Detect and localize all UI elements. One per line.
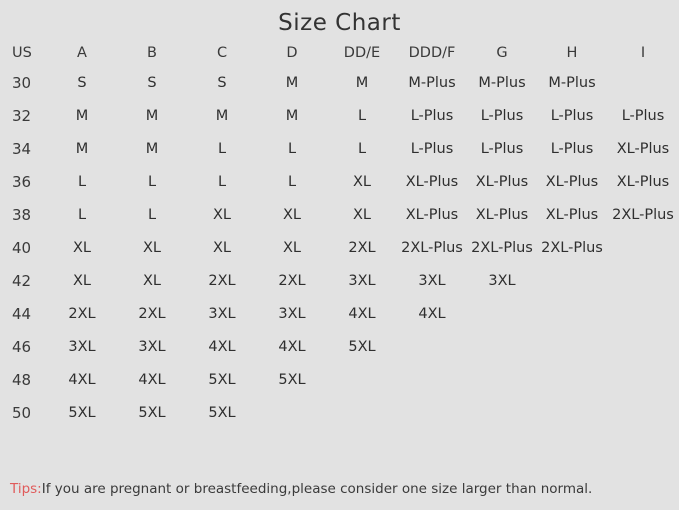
row-header-us-50: 50 bbox=[0, 396, 47, 429]
size-cell: M bbox=[47, 132, 117, 165]
size-cell: XL bbox=[47, 264, 117, 297]
column-header-dd-e: DD/E bbox=[327, 40, 397, 66]
size-cell: 3XL bbox=[467, 264, 537, 297]
size-cell bbox=[607, 330, 679, 363]
size-cell: XL-Plus bbox=[537, 165, 607, 198]
size-cell: L bbox=[327, 99, 397, 132]
size-cell: 3XL bbox=[117, 330, 187, 363]
row-header-us-30: 30 bbox=[0, 66, 47, 99]
size-cell bbox=[537, 264, 607, 297]
size-cell: 2XL-Plus bbox=[397, 231, 467, 264]
size-cell: 2XL-Plus bbox=[607, 198, 679, 231]
size-cell: XL bbox=[47, 231, 117, 264]
size-cell: L bbox=[47, 198, 117, 231]
size-cell: L-Plus bbox=[607, 99, 679, 132]
size-cell: 2XL bbox=[327, 231, 397, 264]
size-cell bbox=[397, 330, 467, 363]
size-cell: XL-Plus bbox=[467, 198, 537, 231]
size-cell: XL bbox=[327, 165, 397, 198]
size-cell: M-Plus bbox=[467, 66, 537, 99]
size-cell: L-Plus bbox=[467, 99, 537, 132]
size-cell: XL-Plus bbox=[397, 198, 467, 231]
size-cell: M bbox=[187, 99, 257, 132]
column-header-g: G bbox=[467, 40, 537, 66]
size-cell: 2XL-Plus bbox=[467, 231, 537, 264]
row-header-us-44: 44 bbox=[0, 297, 47, 330]
size-cell: XL bbox=[117, 231, 187, 264]
size-cell: L-Plus bbox=[397, 99, 467, 132]
size-cell: 5XL bbox=[257, 363, 327, 396]
size-cell: XL-Plus bbox=[467, 165, 537, 198]
size-cell: L bbox=[327, 132, 397, 165]
size-cell: M-Plus bbox=[397, 66, 467, 99]
size-cell: 4XL bbox=[117, 363, 187, 396]
size-cell: 3XL bbox=[397, 264, 467, 297]
tips-label: Tips: bbox=[10, 481, 42, 497]
size-cell: M-Plus bbox=[537, 66, 607, 99]
row-header-us-32: 32 bbox=[0, 99, 47, 132]
page-title: Size Chart bbox=[0, 0, 679, 38]
size-cell: M bbox=[327, 66, 397, 99]
size-cell: 3XL bbox=[47, 330, 117, 363]
size-cell: S bbox=[117, 66, 187, 99]
table-row: 40XLXLXLXL2XL2XL-Plus2XL-Plus2XL-Plus bbox=[0, 231, 679, 264]
size-cell bbox=[397, 396, 467, 429]
size-cell: L bbox=[187, 132, 257, 165]
size-cell: XL bbox=[327, 198, 397, 231]
size-cell: L-Plus bbox=[467, 132, 537, 165]
size-cell: 4XL bbox=[397, 297, 467, 330]
size-cell bbox=[537, 363, 607, 396]
size-cell: XL bbox=[117, 264, 187, 297]
size-cell: 5XL bbox=[327, 330, 397, 363]
size-cell: 2XL bbox=[257, 264, 327, 297]
size-cell: 5XL bbox=[47, 396, 117, 429]
size-cell bbox=[607, 264, 679, 297]
size-cell bbox=[467, 297, 537, 330]
size-chart-table: USABCDDD/EDDD/FGHI 30SSSMMM-PlusM-PlusM-… bbox=[0, 40, 679, 429]
size-cell: XL bbox=[187, 231, 257, 264]
size-cell: S bbox=[187, 66, 257, 99]
size-cell bbox=[537, 330, 607, 363]
size-cell: 2XL bbox=[187, 264, 257, 297]
size-cell: 3XL bbox=[187, 297, 257, 330]
size-cell bbox=[607, 396, 679, 429]
table-row: 484XL4XL5XL5XL bbox=[0, 363, 679, 396]
table-row: 32MMMMLL-PlusL-PlusL-PlusL-Plus bbox=[0, 99, 679, 132]
column-header-i: I bbox=[607, 40, 679, 66]
size-cell: 2XL bbox=[117, 297, 187, 330]
row-header-us-42: 42 bbox=[0, 264, 47, 297]
size-cell bbox=[537, 297, 607, 330]
table-row: 505XL5XL5XL bbox=[0, 396, 679, 429]
column-header-d: D bbox=[257, 40, 327, 66]
row-header-us-38: 38 bbox=[0, 198, 47, 231]
column-header-b: B bbox=[117, 40, 187, 66]
size-cell: XL bbox=[257, 231, 327, 264]
size-cell bbox=[397, 363, 467, 396]
size-cell: XL-Plus bbox=[397, 165, 467, 198]
size-cell: 4XL bbox=[187, 330, 257, 363]
size-cell bbox=[607, 363, 679, 396]
size-cell: L bbox=[47, 165, 117, 198]
size-cell: XL bbox=[187, 198, 257, 231]
size-cell: L bbox=[257, 165, 327, 198]
size-cell: M bbox=[257, 66, 327, 99]
size-cell: XL-Plus bbox=[607, 165, 679, 198]
size-cell: L bbox=[117, 198, 187, 231]
size-cell: 2XL bbox=[47, 297, 117, 330]
size-cell: XL-Plus bbox=[607, 132, 679, 165]
size-cell: 3XL bbox=[257, 297, 327, 330]
size-cell bbox=[607, 231, 679, 264]
size-cell: L bbox=[257, 132, 327, 165]
size-cell bbox=[327, 363, 397, 396]
table-row: 42XLXL2XL2XL3XL3XL3XL bbox=[0, 264, 679, 297]
row-header-us-40: 40 bbox=[0, 231, 47, 264]
size-cell: L bbox=[187, 165, 257, 198]
size-cell: 5XL bbox=[187, 396, 257, 429]
table-row: 463XL3XL4XL4XL5XL bbox=[0, 330, 679, 363]
size-cell: 4XL bbox=[327, 297, 397, 330]
size-cell: L-Plus bbox=[537, 132, 607, 165]
size-cell: M bbox=[47, 99, 117, 132]
table-body: 30SSSMMM-PlusM-PlusM-Plus32MMMMLL-PlusL-… bbox=[0, 66, 679, 429]
table-row: 442XL2XL3XL3XL4XL4XL bbox=[0, 297, 679, 330]
column-header-ddd-f: DDD/F bbox=[397, 40, 467, 66]
table-row: 30SSSMMM-PlusM-PlusM-Plus bbox=[0, 66, 679, 99]
size-cell bbox=[607, 66, 679, 99]
row-header-us-34: 34 bbox=[0, 132, 47, 165]
size-cell: L bbox=[117, 165, 187, 198]
size-cell: M bbox=[117, 99, 187, 132]
table-row: 38LLXLXLXLXL-PlusXL-PlusXL-Plus2XL-Plus bbox=[0, 198, 679, 231]
row-header-us-36: 36 bbox=[0, 165, 47, 198]
size-cell bbox=[467, 330, 537, 363]
row-header-us-46: 46 bbox=[0, 330, 47, 363]
column-header-us: US bbox=[0, 40, 47, 66]
size-cell bbox=[467, 396, 537, 429]
size-cell: 5XL bbox=[117, 396, 187, 429]
size-cell: 4XL bbox=[47, 363, 117, 396]
table-header-row: USABCDDD/EDDD/FGHI bbox=[0, 40, 679, 66]
table-row: 34MMLLLL-PlusL-PlusL-PlusXL-Plus bbox=[0, 132, 679, 165]
column-header-c: C bbox=[187, 40, 257, 66]
size-cell: L-Plus bbox=[537, 99, 607, 132]
table-row: 36LLLLXLXL-PlusXL-PlusXL-PlusXL-Plus bbox=[0, 165, 679, 198]
tips-note: Tips:If you are pregnant or breastfeedin… bbox=[10, 481, 592, 497]
column-header-a: A bbox=[47, 40, 117, 66]
size-cell bbox=[257, 396, 327, 429]
size-cell: XL-Plus bbox=[537, 198, 607, 231]
column-header-h: H bbox=[537, 40, 607, 66]
size-cell: M bbox=[117, 132, 187, 165]
size-cell: 2XL-Plus bbox=[537, 231, 607, 264]
size-cell: L-Plus bbox=[397, 132, 467, 165]
size-cell bbox=[467, 363, 537, 396]
size-cell bbox=[607, 297, 679, 330]
size-cell: S bbox=[47, 66, 117, 99]
row-header-us-48: 48 bbox=[0, 363, 47, 396]
tips-text: If you are pregnant or breastfeeding,ple… bbox=[42, 481, 593, 497]
size-cell: 5XL bbox=[187, 363, 257, 396]
size-cell: 4XL bbox=[257, 330, 327, 363]
size-cell: M bbox=[257, 99, 327, 132]
size-cell: 3XL bbox=[327, 264, 397, 297]
size-cell bbox=[537, 396, 607, 429]
size-cell bbox=[327, 396, 397, 429]
size-cell: XL bbox=[257, 198, 327, 231]
